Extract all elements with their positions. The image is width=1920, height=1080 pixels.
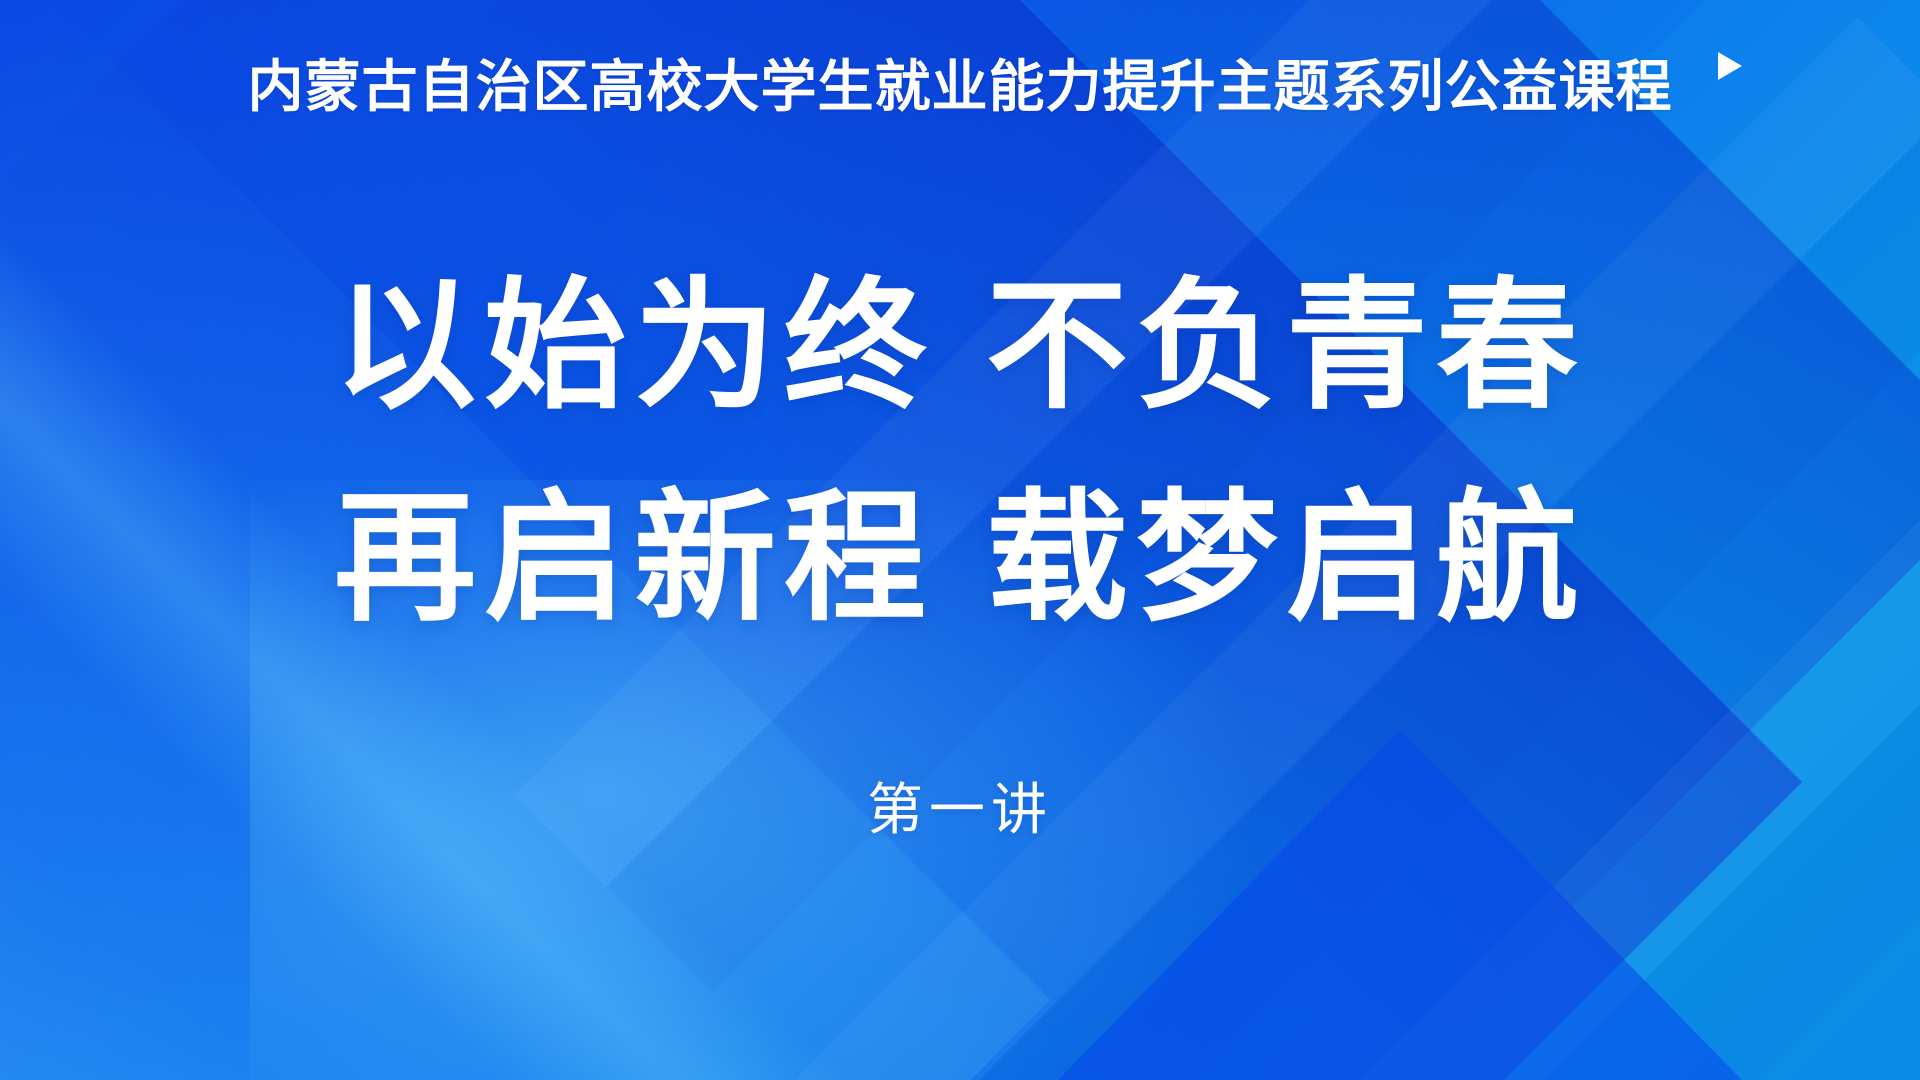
headline-line-1-left: 以始为终 bbox=[334, 268, 934, 426]
headline-line-2-left: 再启新程 bbox=[334, 480, 934, 638]
slide-content: 内蒙古自治区高校大学生就业能力提升主题系列公益课程 以始为终不负青春 再启新程载… bbox=[0, 0, 1920, 1080]
headline-line-2: 再启新程载梦启航 bbox=[0, 488, 1920, 630]
headline-line-1-right: 不负青春 bbox=[986, 268, 1586, 426]
play-triangle-icon bbox=[1718, 52, 1742, 80]
headline-line-1: 以始为终不负青春 bbox=[0, 276, 1920, 418]
course-cover-slide: 内蒙古自治区高校大学生就业能力提升主题系列公益课程 以始为终不负青春 再启新程载… bbox=[0, 0, 1920, 1080]
lecture-label: 第一讲 bbox=[0, 765, 1920, 846]
course-title: 内蒙古自治区高校大学生就业能力提升主题系列公益课程 bbox=[0, 58, 1920, 120]
headline-line-2-right: 载梦启航 bbox=[986, 480, 1586, 638]
